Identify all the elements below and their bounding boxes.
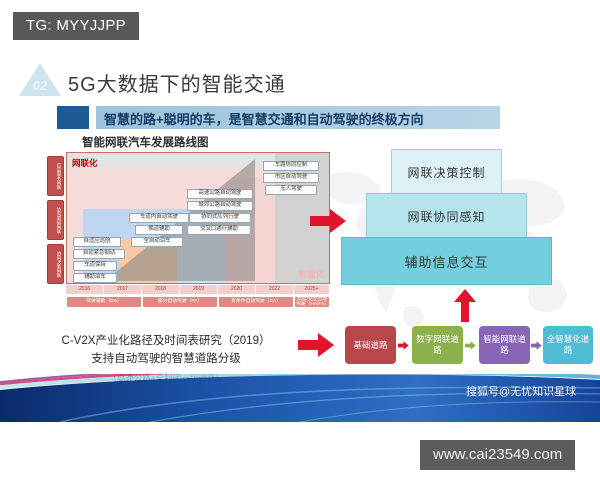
caption-line-1: C-V2X产业化路径及时间表研究（2019） <box>0 332 332 348</box>
caption-line-2: 支持自动驾驶的智慧道路分级 <box>0 350 332 366</box>
year-tick: 2022 <box>256 285 294 294</box>
subtitle-bar: 智慧的路+聪明的车，是智慧交通和自动驾驶的终极方向 <box>96 106 500 129</box>
feature-box: 无人驾驶 <box>265 185 317 195</box>
pyramid-level-bottom: 辅助信息交互 <box>341 237 552 285</box>
page-title: 5G大数据下的智能交通 <box>68 68 286 97</box>
feature-box: 车道内自动驾驶 <box>129 213 189 223</box>
roadmap-axis-x-label: 智能化 <box>298 268 324 280</box>
roadmap-side-category-2: 协同感知网联 <box>47 200 64 240</box>
feature-box: 辅助泊车 <box>73 273 117 283</box>
roadmap-side-category-1: 信息服务网联 <box>47 156 64 196</box>
year-tick: 2017 <box>104 285 142 294</box>
level-box: 高度/完全自动驾驶（HA/FA） <box>294 296 330 308</box>
roadmap-chart: 信息服务网联 协同感知网联 协同决策网联 网联化 智能化 自适应巡航 自动紧急制… <box>47 152 330 310</box>
arrow-up-icon <box>452 288 478 324</box>
feature-box: 城郊公路自动驾驶 <box>187 201 253 211</box>
feature-box: 市区自动驾驶 <box>263 173 319 183</box>
roadmap-plot-area: 网联化 智能化 自适应巡航 自动紧急制动 车道保持 辅助泊车 车道内自动驾驶 换… <box>66 152 330 284</box>
section-badge-number: 02 <box>19 78 61 93</box>
subtitle-text: 智慧的路+聪明的车，是智慧交通和自动驾驶的终极方向 <box>96 106 500 128</box>
year-tick: 2016 <box>66 285 104 294</box>
feature-box: 全自动泊车 <box>131 237 183 247</box>
year-tick: 2020 <box>218 285 256 294</box>
feature-box: 自动紧急制动 <box>73 249 125 259</box>
arrow-right-icon-bottom <box>296 332 336 358</box>
level-box: 有条件自动驾驶（CA） <box>218 296 294 308</box>
feature-box: 车道保持 <box>73 261 117 271</box>
roadmap-year-axis: 2016 2017 2018 2019 2020 2022 2025+ <box>66 285 330 294</box>
slide-root: TG: MYYJJPP 02 5G大数据下的智能交通 智慧的路+聪明的车，是智慧… <box>0 0 600 480</box>
roadmap-level-axis: 驾驶辅助（DA） 部分自动驾驶（PA） 有条件自动驾驶（CA） 高度/完全自动驾… <box>66 296 330 308</box>
road-level-box-4: 全智慧化道路 <box>543 326 593 364</box>
year-tick: 2025+ <box>294 285 330 294</box>
arrow-right-icon-top <box>308 208 348 234</box>
level-box: 驾驶辅助（DA） <box>66 296 142 308</box>
pyramid-level-top: 网联决策控制 <box>391 149 502 195</box>
pyramid-level-middle: 网联协同感知 <box>366 193 527 239</box>
feature-box: 自适应巡航 <box>73 237 121 247</box>
feature-box: 交叉口通行辅助 <box>187 225 251 235</box>
feature-box: 换道辅助 <box>135 225 183 235</box>
feature-box: 车路协同控制 <box>263 161 319 171</box>
url-watermark: www.cai23549.com <box>420 440 575 470</box>
pyramid-level-middle-label: 网联协同感知 <box>367 194 526 238</box>
roadmap-title: 智能网联汽车发展路线图 <box>82 134 209 150</box>
year-tick: 2018 <box>142 285 180 294</box>
road-arrow-icon-2 <box>465 341 476 350</box>
sohu-watermark: 搜狐号@无忧知识星球 <box>466 383 576 399</box>
feature-box: 协同式队列行驶 <box>189 213 251 223</box>
pyramid-level-bottom-label: 辅助信息交互 <box>342 238 551 284</box>
road-arrow-icon-1 <box>398 341 409 350</box>
feature-box: 高速公路自动驾驶 <box>187 189 253 199</box>
road-level-box-3: 智能网联道路 <box>479 326 530 364</box>
year-tick: 2019 <box>180 285 218 294</box>
subtitle-marker <box>57 106 89 129</box>
level-box: 部分自动驾驶（PA） <box>142 296 218 308</box>
road-arrow-icon-3 <box>531 341 542 350</box>
road-level-box-1: 基础道路 <box>345 326 396 364</box>
road-level-box-2: 数字网联道路 <box>412 326 463 364</box>
tg-tag: TG: MYYJJPP <box>13 12 139 40</box>
roadmap-side-category-3: 协同决策网联 <box>47 244 64 284</box>
pyramid-level-top-label: 网联决策控制 <box>392 150 501 194</box>
roadmap-axis-y-label: 网联化 <box>72 157 98 169</box>
